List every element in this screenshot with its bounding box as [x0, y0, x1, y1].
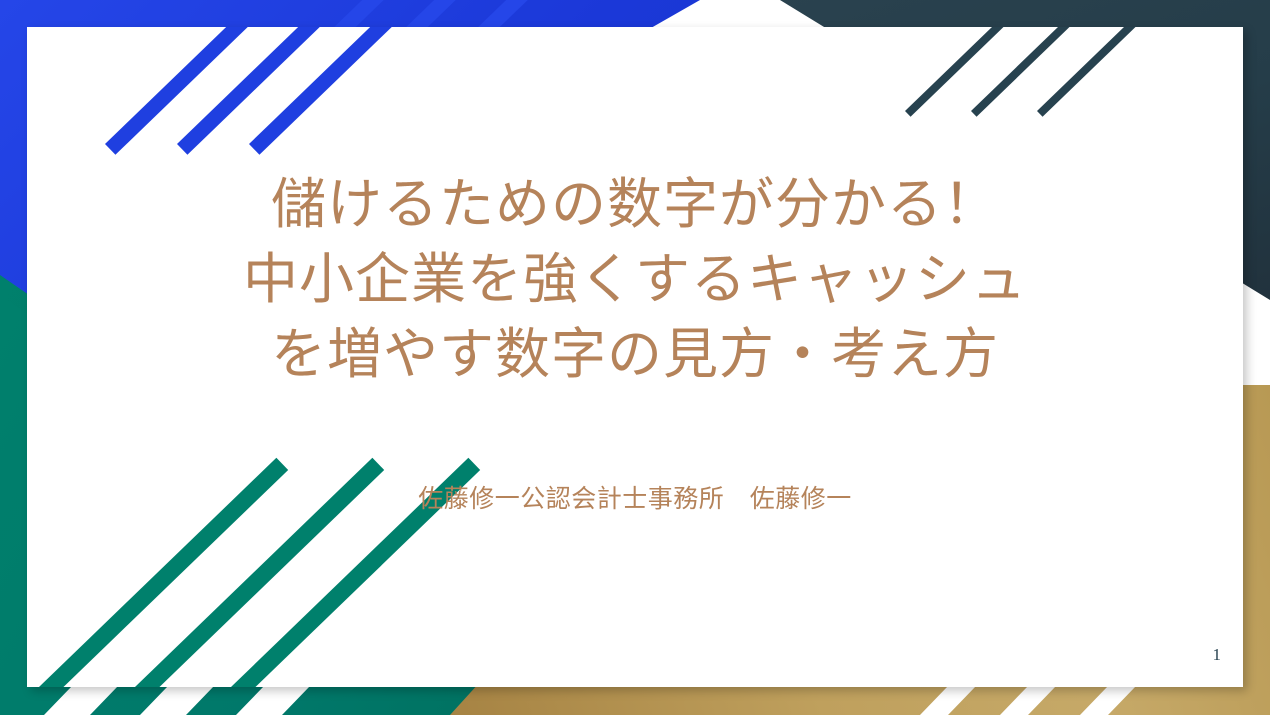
stripe-segment: [177, 27, 396, 155]
stripe-segment: [249, 27, 468, 155]
top-right-navy-stripes: [883, 27, 1243, 147]
presentation-slide: 儲けるための数字が分かる！ 中小企業を強くするキャッシュ を増やす数字の見方・考…: [0, 0, 1270, 715]
slide-subtitle: 佐藤修一公認会計士事務所 佐藤修一: [27, 482, 1243, 516]
slide-title: 儲けるための数字が分かる！ 中小企業を強くするキャッシュ を増やす数字の見方・考…: [27, 167, 1243, 392]
bottom-left-green-stripes: [27, 517, 487, 687]
slide-content-card: 儲けるための数字が分かる！ 中小企業を強くするキャッシュ を増やす数字の見方・考…: [27, 27, 1243, 687]
title-line-2: 中小企業を強くするキャッシュ: [27, 242, 1243, 317]
stripe-segment: [105, 27, 324, 155]
page-number: 1: [1213, 645, 1222, 665]
stripe-segment: [905, 27, 1090, 117]
stripe-segment: [971, 27, 1156, 117]
top-left-blue-stripes: [27, 27, 447, 167]
title-line-3: を増やす数字の見方・考え方: [27, 317, 1243, 392]
title-line-1: 儲けるための数字が分かる！: [27, 167, 1243, 242]
stripe-segment: [1037, 27, 1222, 117]
